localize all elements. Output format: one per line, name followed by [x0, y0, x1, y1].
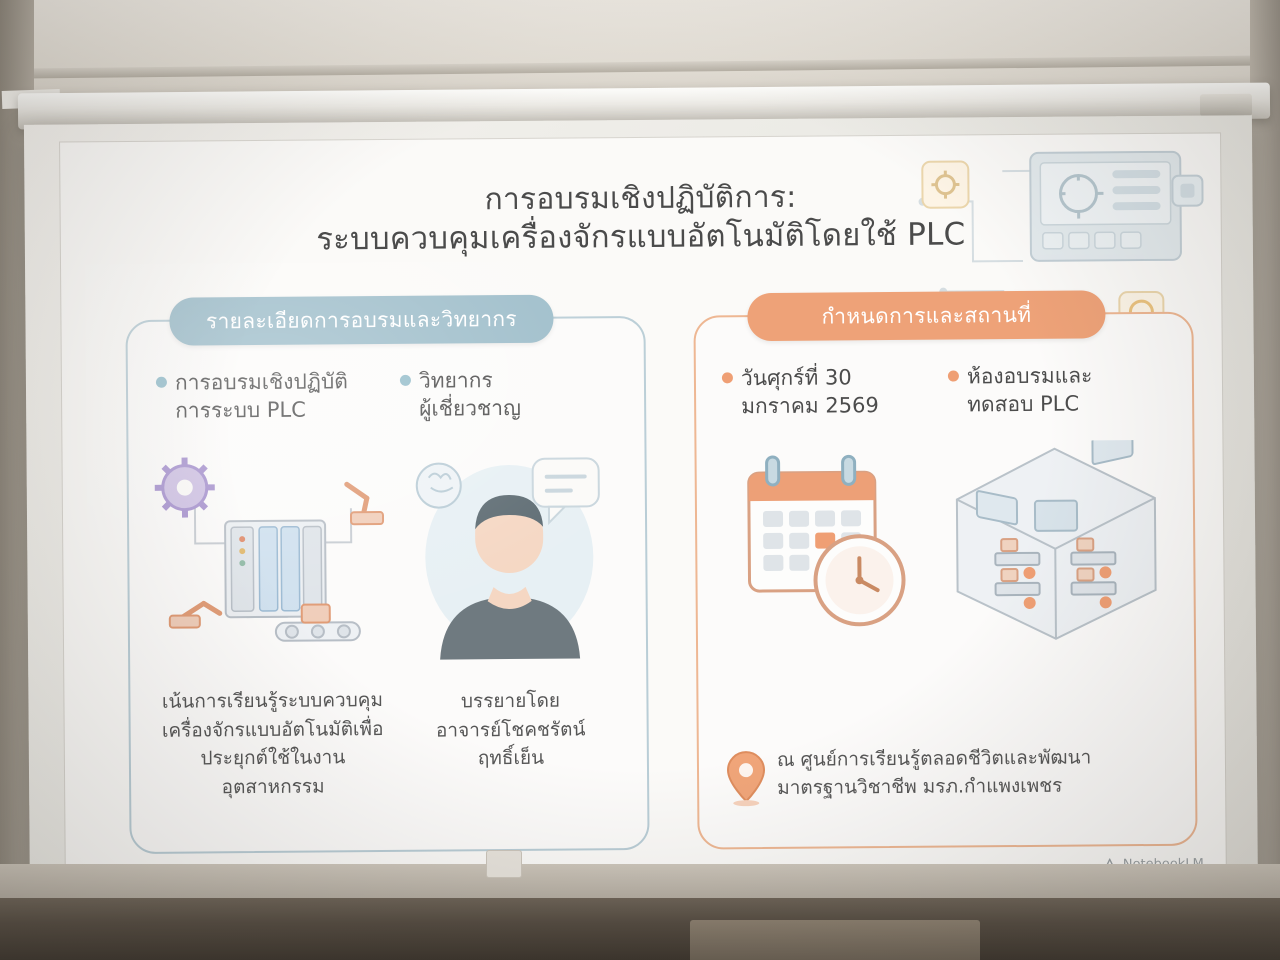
- panel-training-details: รายละเอียดการอบรมและวิทยากร การอบรมเชิงป…: [125, 316, 649, 854]
- books-on-table: [690, 920, 980, 960]
- bullet-orange-icon: [948, 370, 959, 381]
- column-date-heading-line2: มกราคม 2569: [741, 393, 879, 418]
- column-plc-heading-line1: การอบรมเชิงปฏิบัติ: [175, 369, 348, 394]
- map-pin-icon: [725, 749, 767, 807]
- column-speaker: วิทยากร ผู้เชี่ยวชาญ: [400, 366, 616, 423]
- slide-title: การอบรมเชิงปฏิบัติการ: ระบบควบคุมเครื่อง…: [60, 175, 1221, 262]
- column-speaker-caption: บรรยายโดย อาจารย์โชคชรัตน์ ฤทธิ์เย็น: [402, 686, 619, 773]
- column-plc-caption-line2: เครื่องจักรแบบอัตโนมัติเพื่อ: [159, 715, 387, 745]
- panel-schedule-venue: กำหนดการและสถานที่ วันศุกร์ที่ 30 มกราคม…: [693, 312, 1197, 850]
- column-speaker-caption-line3: ฤทธิ์เย็น: [403, 743, 619, 773]
- venue-line-1: ณ ศูนย์การเรียนรู้ตลอดชีวิตและพัฒนา: [777, 744, 1092, 774]
- column-date-heading-line1: วันศุกร์ที่ 30: [741, 365, 852, 390]
- plc-controller-icon: [150, 446, 402, 668]
- bullet-blue-icon: [400, 374, 411, 385]
- bullet-blue-icon: [156, 376, 167, 387]
- presentation-slide: การอบรมเชิงปฏิบัติการ: ระบบควบคุมเครื่อง…: [60, 133, 1226, 894]
- column-room-heading-line2: ทดสอบ PLC: [967, 391, 1079, 416]
- screen-housing-endcap: [1200, 94, 1252, 116]
- expert-person-icon: [400, 436, 618, 668]
- photo-of-projected-slide: การอบรมเชิงปฏิบัติการ: ระบบควบคุมเครื่อง…: [0, 0, 1280, 960]
- column-date-heading: วันศุกร์ที่ 30 มกราคม 2569: [722, 364, 934, 421]
- wall-outlet: [486, 850, 522, 878]
- panel-left-tab: รายละเอียดการอบรมและวิทยากร: [169, 295, 553, 346]
- venue-line-2: มาตรฐานวิชาชีพ มรภ.กำแพงเพชร: [777, 772, 1092, 802]
- floor-strip: [0, 864, 1280, 898]
- column-plc-caption: เน้นการเรียนรู้ระบบควบคุม เครื่องจักรแบบ…: [158, 686, 387, 802]
- column-speaker-caption-line1: บรรยายโดย: [402, 686, 618, 716]
- column-plc-heading-line2: การระบบ PLC: [175, 397, 306, 422]
- panel-right-tab: กำหนดการและสถานที่: [747, 290, 1105, 341]
- bullet-orange-icon: [722, 372, 733, 383]
- column-speaker-heading: วิทยากร ผู้เชี่ยวชาญ: [400, 366, 616, 423]
- column-speaker-heading-line2: ผู้เชี่ยวชาญ: [419, 396, 521, 421]
- column-room-heading: ห้องอบรมและ ทดสอบ PLC: [948, 362, 1164, 419]
- training-room-icon: [942, 440, 1170, 648]
- column-speaker-caption-line2: อาจารย์โชคชรัตน์: [403, 715, 619, 745]
- column-speaker-heading-line1: วิทยากร: [419, 368, 493, 393]
- projection-screen: การอบรมเชิงปฏิบัติการ: ระบบควบคุมเครื่อง…: [24, 115, 1258, 915]
- column-plc-training: การอบรมเชิงปฏิบัติ การระบบ PLC: [156, 368, 384, 425]
- panel-left-tab-label: รายละเอียดการอบรมและวิทยากร: [206, 302, 517, 337]
- calendar-clock-icon: [730, 448, 928, 650]
- column-plc-caption-line3: ประยุกต์ใช้ในงานอุตสาหกรรม: [159, 743, 387, 802]
- column-room-heading-line1: ห้องอบรมและ: [967, 363, 1093, 388]
- venue-location: ณ ศูนย์การเรียนรู้ตลอดชีวิตและพัฒนา มาตร…: [725, 744, 1169, 807]
- column-date: วันศุกร์ที่ 30 มกราคม 2569: [722, 364, 934, 421]
- panel-right-tab-label: กำหนดการและสถานที่: [821, 298, 1031, 333]
- column-plc-heading: การอบรมเชิงปฏิบัติ การระบบ PLC: [156, 368, 384, 425]
- foreground-table: [0, 898, 1280, 960]
- column-plc-caption-line1: เน้นการเรียนรู้ระบบควบคุม: [158, 686, 386, 716]
- column-room: ห้องอบรมและ ทดสอบ PLC: [948, 362, 1164, 419]
